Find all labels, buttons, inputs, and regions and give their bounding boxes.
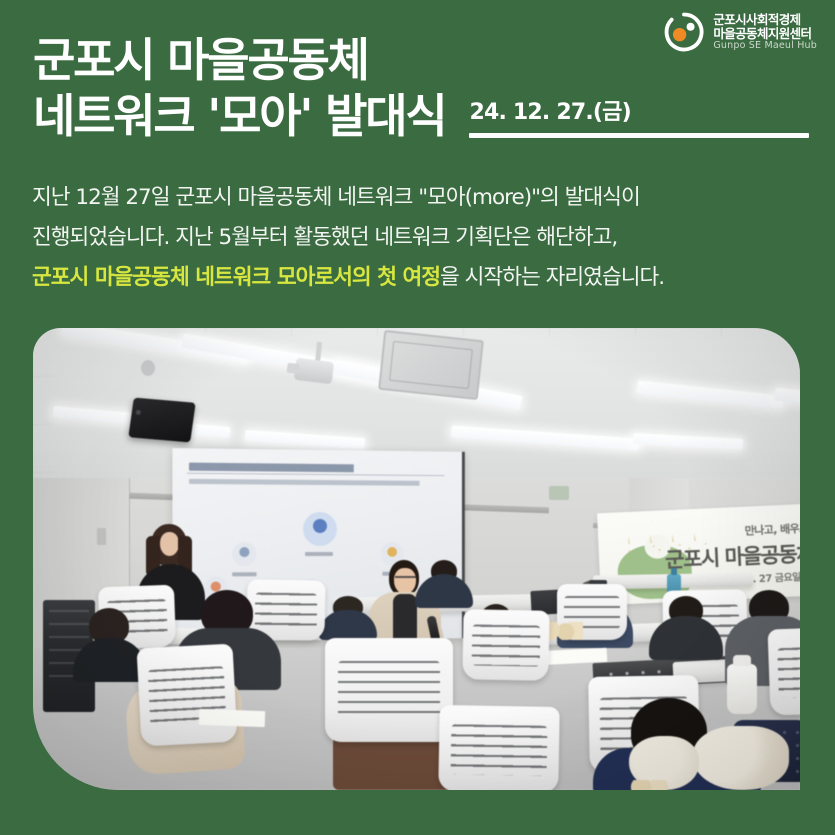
- slide-node-label: [232, 572, 256, 576]
- headline-line-1: 군포시 마을공동체: [33, 32, 793, 88]
- chair: [325, 638, 453, 742]
- body-line-3-tail: 을 시작하는 자리였습니다.: [440, 265, 664, 290]
- headline-line-2: 네트워크 '모아' 발대식: [33, 88, 445, 144]
- fur-collar: [693, 726, 789, 790]
- slide-divider: [187, 473, 445, 476]
- slide-node-label: [305, 552, 333, 556]
- body-line-3: 군포시 마을공동체 네트워크 모아로서의 첫 여정을 시작하는 자리였습니다.: [32, 258, 812, 298]
- banner-line-1: 만나고, 배우고, 나: [744, 519, 800, 539]
- body-highlight: 군포시 마을공동체 네트워크 모아로서의 첫 여정: [32, 265, 440, 290]
- chair: [438, 705, 559, 790]
- paper-handout: [199, 709, 266, 727]
- ceiling-projector: [294, 358, 334, 384]
- headline-block: 군포시 마을공동체 네트워크 '모아' 발대식 24. 12. 27.(금): [33, 32, 793, 144]
- slide-title-text: [189, 463, 429, 474]
- ceiling-speaker: [141, 360, 155, 376]
- headline-row-2: 네트워크 '모아' 발대식 24. 12. 27.(금): [33, 88, 793, 144]
- chair: [137, 644, 238, 747]
- slide-network-node: [232, 542, 256, 566]
- headline-underline-rule: [469, 133, 809, 138]
- card-news-slide: 군포시사회적경제 마을공동체지원센터 Gunpo SE Maeul Hub 군포…: [0, 0, 835, 835]
- wall-mounted-monitor: [128, 397, 195, 442]
- body-line-2: 진행되었습니다. 지난 5월부터 활동했던 네트워크 기획단은 해단하고,: [32, 218, 812, 258]
- slide-subtitle-text: [189, 479, 439, 486]
- ceiling-air-vent: [378, 330, 484, 400]
- chair: [768, 626, 800, 715]
- tumbler: [727, 664, 757, 714]
- event-date: 24. 12. 27.(금): [469, 94, 793, 133]
- snack-plate: [629, 780, 669, 790]
- body-copy-block: 지난 12월 27일 군포시 마을공동체 네트워크 "모아(more)"의 발대…: [32, 178, 812, 298]
- event-photo: 만나고, 배우고, 나 군포시 마을공동체 네 일 시 | 2024. 12. …: [33, 328, 800, 790]
- exit-sign: [549, 486, 569, 500]
- body-line-1: 지난 12월 27일 군포시 마을공동체 네트워크 "모아(more)"의 발대…: [32, 178, 812, 218]
- slide-network-node: [303, 512, 337, 546]
- speaker-glasses: [395, 576, 416, 583]
- wall-switch: [97, 528, 106, 545]
- logo-line-1: 군포시사회적경제: [713, 13, 817, 26]
- chair: [462, 609, 549, 680]
- date-block: 24. 12. 27.(금): [469, 94, 793, 144]
- host-face: [160, 532, 179, 556]
